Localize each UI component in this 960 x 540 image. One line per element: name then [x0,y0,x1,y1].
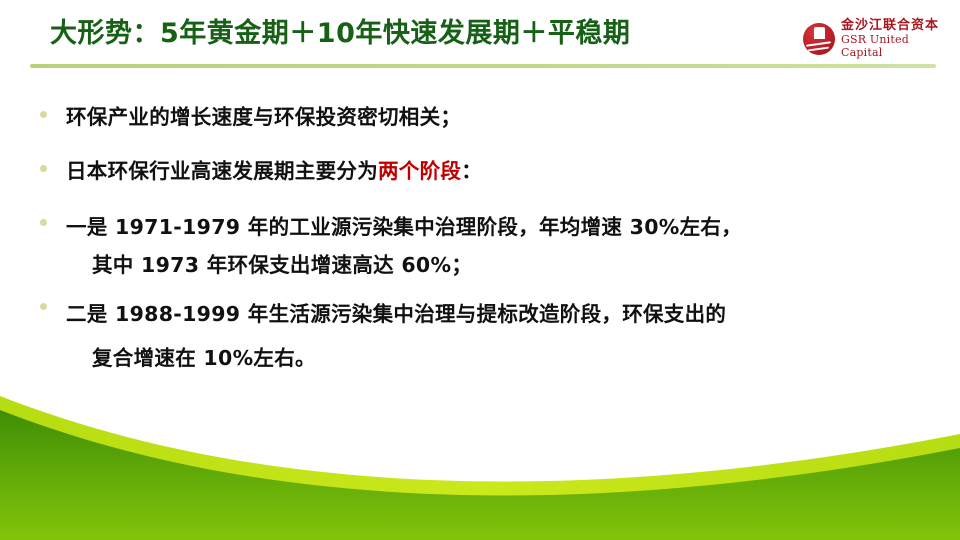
grass-hill-decoration [0,370,960,540]
list-item: 环保产业的增长速度与环保投资密切相关； [40,100,930,134]
bullet-dot-icon [40,154,66,172]
bullet-line-tail: ： [461,159,482,183]
slide-body: 环保产业的增长速度与环保投资密切相关； 日本环保行业高速发展期主要分为两个阶段：… [40,100,930,380]
page-title: 大形势：5年黄金期＋10年快速发展期＋平稳期 [50,17,630,51]
sunrise-circle-icon [803,23,835,53]
bullet-line: 其中 1973 年环保支出增速高达 60%； [66,246,930,284]
bullet-line: 二是 1988-1999 年生活源污染集中治理与提标改造阶段，环保支出的 [66,292,930,336]
title-underline [30,64,936,68]
bullet-text: 二是 1988-1999 年生活源污染集中治理与提标改造阶段，环保支出的 复合增… [66,292,930,380]
bullet-line: 一是 1971-1979 年的工业源污染集中治理阶段，年均增速 30%左右， [66,208,930,246]
bullet-dot-icon [40,292,66,310]
company-logo: 金沙江联合资本 GSR United Capital [803,18,943,58]
bullet-line: 日本环保行业高速发展期主要分为 [66,159,378,183]
bullet-text: 环保产业的增长速度与环保投资密切相关； [66,100,930,134]
bullet-dot-icon [40,208,66,226]
logo-name-cn: 金沙江联合资本 [841,18,943,33]
slide-canvas: 大形势：5年黄金期＋10年快速发展期＋平稳期 金沙江联合资本 GSR Unite… [0,0,960,540]
bullet-dot-icon [40,100,66,118]
bullet-line: 环保产业的增长速度与环保投资密切相关； [66,105,461,129]
list-item: 一是 1971-1979 年的工业源污染集中治理阶段，年均增速 30%左右， 其… [40,208,930,284]
logo-name-en: GSR United Capital [841,33,943,59]
highlight-phrase: 两个阶段 [378,159,461,183]
slide-header: 大形势：5年黄金期＋10年快速发展期＋平稳期 金沙江联合资本 GSR Unite… [0,0,960,78]
logo-text: 金沙江联合资本 GSR United Capital [841,18,943,59]
bullet-text: 日本环保行业高速发展期主要分为两个阶段： [66,154,930,188]
list-item: 日本环保行业高速发展期主要分为两个阶段： [40,154,930,188]
bullet-text: 一是 1971-1979 年的工业源污染集中治理阶段，年均增速 30%左右， 其… [66,208,930,284]
list-item: 二是 1988-1999 年生活源污染集中治理与提标改造阶段，环保支出的 复合增… [40,292,930,380]
